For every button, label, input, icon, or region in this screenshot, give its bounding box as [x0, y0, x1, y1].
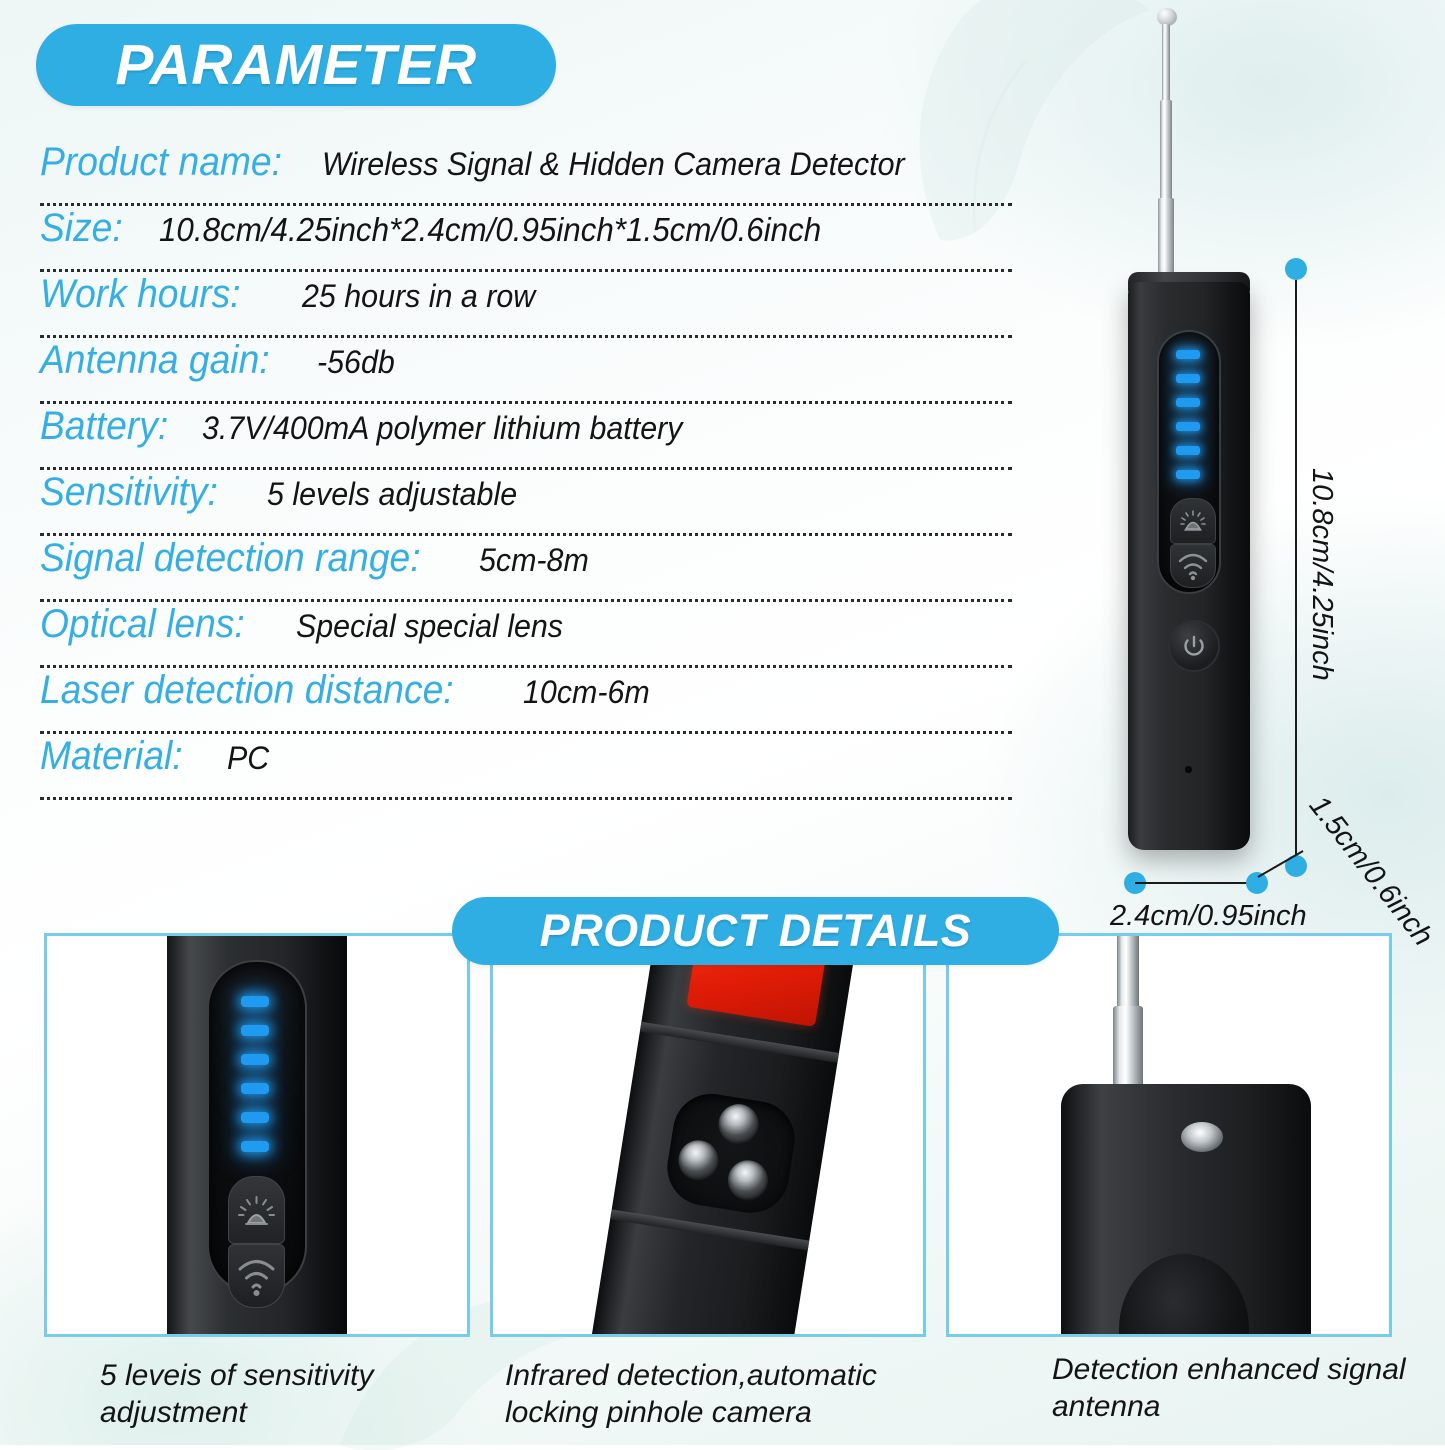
dim-line-width: [1135, 882, 1255, 884]
wifi-icon: [1171, 545, 1215, 587]
sensitivity-panel: [44, 933, 470, 1337]
power-icon: [1179, 631, 1209, 661]
spec-row: Antenna gain:-56db: [40, 338, 1012, 404]
led-bar-4: [1176, 422, 1200, 431]
led-bar-3: [1176, 398, 1200, 407]
spec-value: 10.8cm/4.25inch*2.4cm/0.95inch*1.5cm/0.6…: [159, 211, 821, 249]
led-bar-2: [1176, 374, 1200, 383]
sensor-lens-closeup: [1119, 1254, 1249, 1337]
spec-value: 5 levels adjustable: [267, 476, 517, 513]
closeup-wifi-button[interactable]: [228, 1244, 285, 1308]
spec-row: Size:10.8cm/4.25inch*2.4cm/0.95inch*1.5c…: [40, 206, 1012, 272]
wifi-icon: [229, 1245, 284, 1307]
closeup-led-bar-1: [241, 996, 269, 1007]
antenna-panel: [946, 933, 1392, 1337]
specification-table: Product name:Wireless Signal & Hidden Ca…: [40, 140, 1012, 800]
dim-label-depth: 1.5cm/0.6inch: [1302, 790, 1439, 953]
closeup-led-bar-6: [241, 1141, 269, 1152]
ir-led-3: [725, 1157, 771, 1203]
spec-label: Product name:: [40, 140, 282, 185]
led-bar-5: [1176, 446, 1200, 455]
spec-row: Work hours:25 hours in a row: [40, 272, 1012, 338]
tilted-device-closeup: [585, 933, 861, 1337]
spec-label: Antenna gain:: [40, 338, 270, 383]
spec-value: 10cm-6m: [523, 674, 650, 711]
device-seam-upper: [640, 1022, 839, 1063]
spec-row: Product name:Wireless Signal & Hidden Ca…: [40, 140, 1012, 206]
spec-value: -56db: [317, 344, 395, 381]
antenna-panel-caption: Detection enhanced signal antenna: [1052, 1352, 1412, 1425]
antenna-closeup-segment-top: [1117, 933, 1139, 1010]
led-bar-6: [1176, 470, 1200, 479]
microphone-pinhole: [1185, 766, 1192, 773]
parameter-header-pill: PARAMETER: [36, 24, 556, 106]
product-details-header-label: PRODUCT DETAILS: [540, 905, 972, 957]
parameter-header-label: PARAMETER: [115, 32, 476, 98]
closeup-led-bar-2: [241, 1025, 269, 1036]
alarm-button[interactable]: [1170, 498, 1216, 544]
spec-label: Size:: [40, 206, 123, 251]
spec-value: 25 hours in a row: [302, 278, 535, 315]
ir-led-1: [716, 1101, 762, 1147]
device-seam-lower: [610, 1209, 809, 1250]
led-bar-1: [1176, 350, 1200, 359]
antenna-segment-2: [1160, 100, 1172, 202]
spec-label: Material:: [40, 734, 183, 779]
closeup-led-bar-5: [241, 1112, 269, 1123]
power-button[interactable]: [1168, 620, 1220, 672]
antenna-segment-3: [1162, 24, 1170, 104]
spec-value: 5cm-8m: [479, 542, 589, 579]
spec-label: Sensitivity:: [40, 470, 218, 515]
ir-led-recess: [662, 1088, 800, 1218]
spec-label: Work hours:: [40, 272, 241, 317]
spec-value: 3.7V/400mA polymer lithium battery: [202, 410, 682, 447]
sensitivity-panel-caption: 5 leveis of sensitivity adjustment: [100, 1358, 430, 1431]
spec-label: Laser detection distance:: [40, 668, 454, 713]
spec-row: Sensitivity:5 levels adjustable: [40, 470, 1012, 536]
product-hero-image: [1120, 0, 1320, 880]
spec-row: Battery:3.7V/400mA polymer lithium batte…: [40, 404, 1012, 470]
spec-row: Material:PC: [40, 734, 1012, 800]
closeup-led-bar-3: [241, 1054, 269, 1065]
product-details-header-pill: PRODUCT DETAILS: [452, 897, 1059, 965]
spec-label: Signal detection range:: [40, 536, 421, 581]
spec-label: Battery:: [40, 404, 168, 449]
wifi-button[interactable]: [1170, 544, 1216, 588]
dim-label-width: 2.4cm/0.95inch: [1110, 900, 1307, 933]
dim-dot-height-top: [1285, 258, 1307, 280]
spec-label: Optical lens:: [40, 602, 245, 647]
infrared-panel-caption: Infrared detection,automatic locking pin…: [505, 1358, 925, 1431]
spec-value: PC: [227, 740, 269, 777]
alarm-bell-icon: [1171, 499, 1215, 543]
antenna-mount-screw: [1181, 1122, 1223, 1152]
device-top-closeup: [1061, 1084, 1311, 1337]
antenna-segment-1: [1158, 198, 1174, 280]
closeup-alarm-button[interactable]: [228, 1176, 285, 1244]
spec-row: Optical lens:Special special lens: [40, 602, 1012, 668]
product-spec-page: PARAMETER Product name:Wireless Signal &…: [0, 0, 1445, 1445]
spec-value: Special special lens: [296, 608, 563, 645]
spec-row: Laser detection distance:10cm-6m: [40, 668, 1012, 734]
spec-value: Wireless Signal & Hidden Camera Detector: [322, 146, 905, 183]
infrared-panel: [490, 933, 926, 1337]
spec-row: Signal detection range:5cm-8m: [40, 536, 1012, 602]
closeup-led-bar-4: [241, 1083, 269, 1094]
alarm-bell-icon: [229, 1177, 284, 1243]
dim-line-height: [1295, 280, 1297, 862]
ir-led-2: [676, 1137, 722, 1183]
dim-label-height: 10.8cm/4.25inch: [1305, 468, 1338, 681]
